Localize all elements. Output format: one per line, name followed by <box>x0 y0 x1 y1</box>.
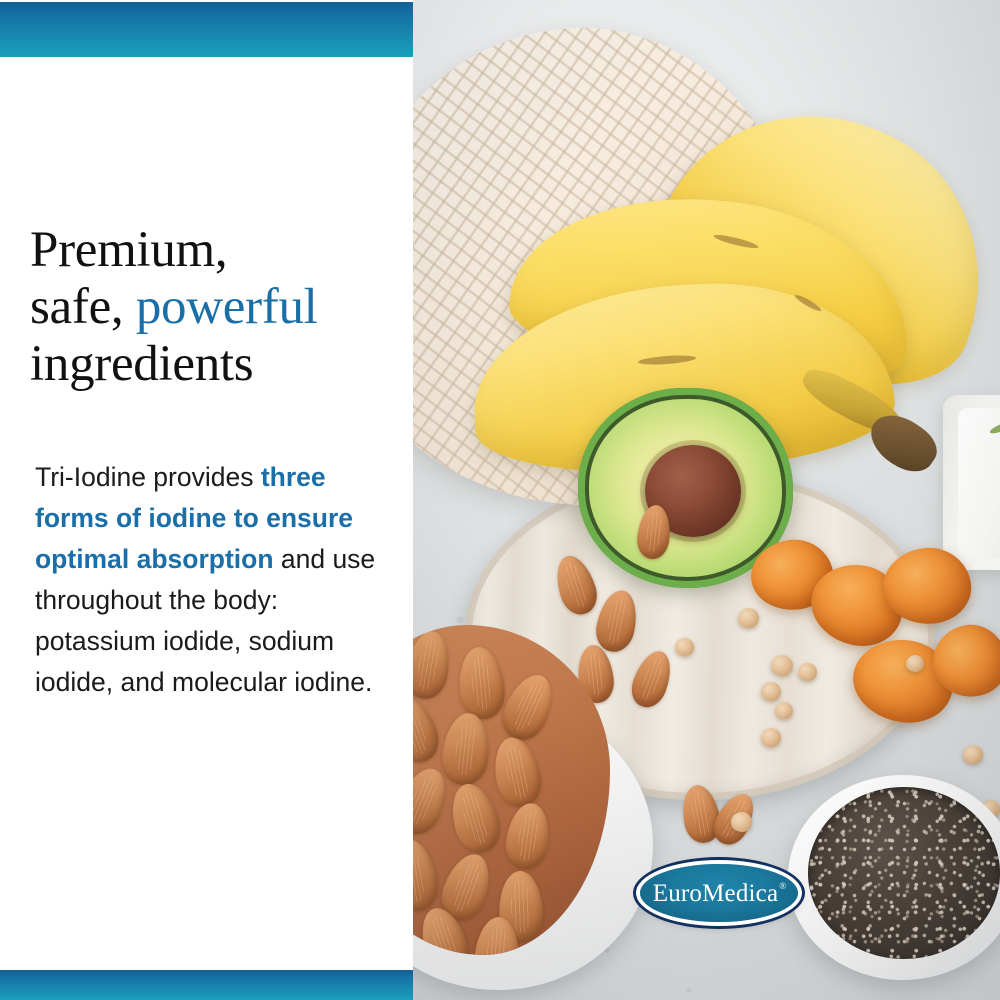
body-copy: Tri-Iodine provides three forms of iodin… <box>35 457 380 703</box>
registered-trademark-icon: ® <box>779 882 786 891</box>
left-content-panel: Premium, safe, powerful ingredients Tri-… <box>0 0 413 1000</box>
headline-line-1: Premium, <box>30 222 227 278</box>
body-segment-plain-1: Tri-Iodine provides <box>35 462 261 492</box>
marketing-graphic: Premium, safe, powerful ingredients Tri-… <box>0 0 1000 1000</box>
page-title: Premium, safe, powerful ingredients <box>30 222 400 393</box>
headline-accent-word: powerful <box>136 279 318 335</box>
food-photograph: EuroMedica® <box>413 0 1000 1000</box>
logo-wordmark: EuroMedica® <box>653 881 786 906</box>
headline-line-2-plain: safe, <box>30 279 136 335</box>
logo-brand-name: EuroMedica <box>653 880 779 907</box>
photo-vignette <box>413 0 1000 1000</box>
top-accent-bar <box>0 2 413 57</box>
euromedica-logo: EuroMedica® <box>640 864 798 922</box>
bottom-accent-bar <box>0 970 413 1000</box>
headline-line-3: ingredients <box>30 336 253 392</box>
